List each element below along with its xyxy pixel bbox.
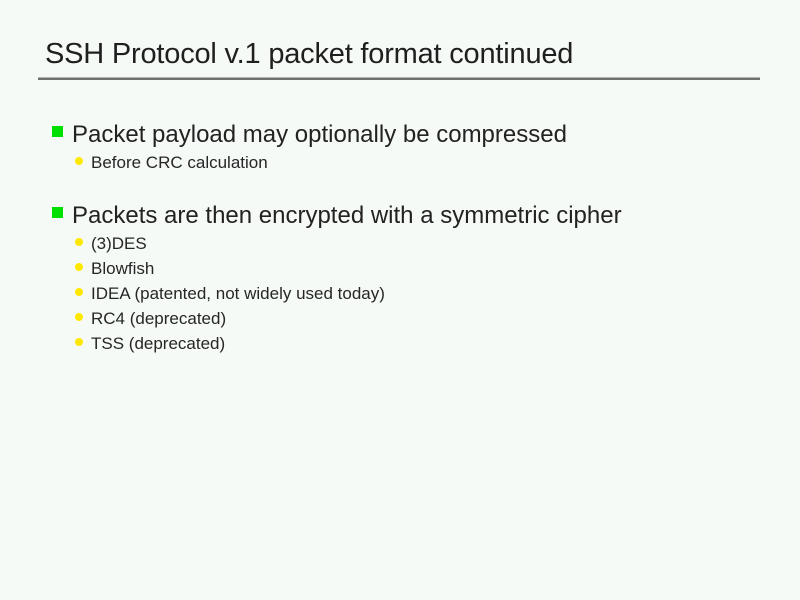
yellow-dot-bullet-icon	[75, 313, 83, 321]
yellow-dot-bullet-icon	[75, 288, 83, 296]
level2-bullet-label: IDEA (patented, not widely used today)	[91, 283, 385, 305]
list-item: (3)DES	[52, 233, 772, 258]
level2-bullet-list: (3)DES Blowfish IDEA (patented, not wide…	[52, 233, 772, 358]
slide-title-block: SSH Protocol v.1 packet format continued	[38, 36, 762, 81]
list-item: Blowfish	[52, 258, 772, 283]
bullet-group: Packets are then encrypted with a symmet…	[52, 201, 772, 358]
level1-bullet-label: Packet payload may optionally be compres…	[72, 120, 567, 150]
yellow-dot-bullet-icon	[75, 338, 83, 346]
page-title: SSH Protocol v.1 packet format continued	[38, 36, 762, 72]
level2-bullet-label: RC4 (deprecated)	[91, 308, 226, 330]
green-square-bullet-icon	[52, 207, 63, 218]
list-item: IDEA (patented, not widely used today)	[52, 283, 772, 308]
list-item: TSS (deprecated)	[52, 333, 772, 358]
bullet-group: Packet payload may optionally be compres…	[52, 120, 772, 177]
level2-bullet-label: Blowfish	[91, 258, 154, 280]
slide-body: Packet payload may optionally be compres…	[52, 120, 772, 358]
yellow-dot-bullet-icon	[75, 157, 83, 165]
level1-bullet-item: Packet payload may optionally be compres…	[52, 120, 772, 150]
level2-bullet-label: Before CRC calculation	[91, 152, 268, 174]
list-item: RC4 (deprecated)	[52, 308, 772, 333]
slide-canvas: SSH Protocol v.1 packet format continued…	[0, 0, 800, 600]
level1-bullet-label: Packets are then encrypted with a symmet…	[72, 201, 622, 231]
level2-bullet-label: TSS (deprecated)	[91, 333, 225, 355]
level2-bullet-label: (3)DES	[91, 233, 147, 255]
level2-bullet-list: Before CRC calculation	[52, 152, 772, 177]
yellow-dot-bullet-icon	[75, 263, 83, 271]
level1-bullet-item: Packets are then encrypted with a symmet…	[52, 201, 772, 231]
yellow-dot-bullet-icon	[75, 238, 83, 246]
list-item: Before CRC calculation	[52, 152, 772, 177]
title-divider	[38, 77, 760, 81]
green-square-bullet-icon	[52, 126, 63, 137]
